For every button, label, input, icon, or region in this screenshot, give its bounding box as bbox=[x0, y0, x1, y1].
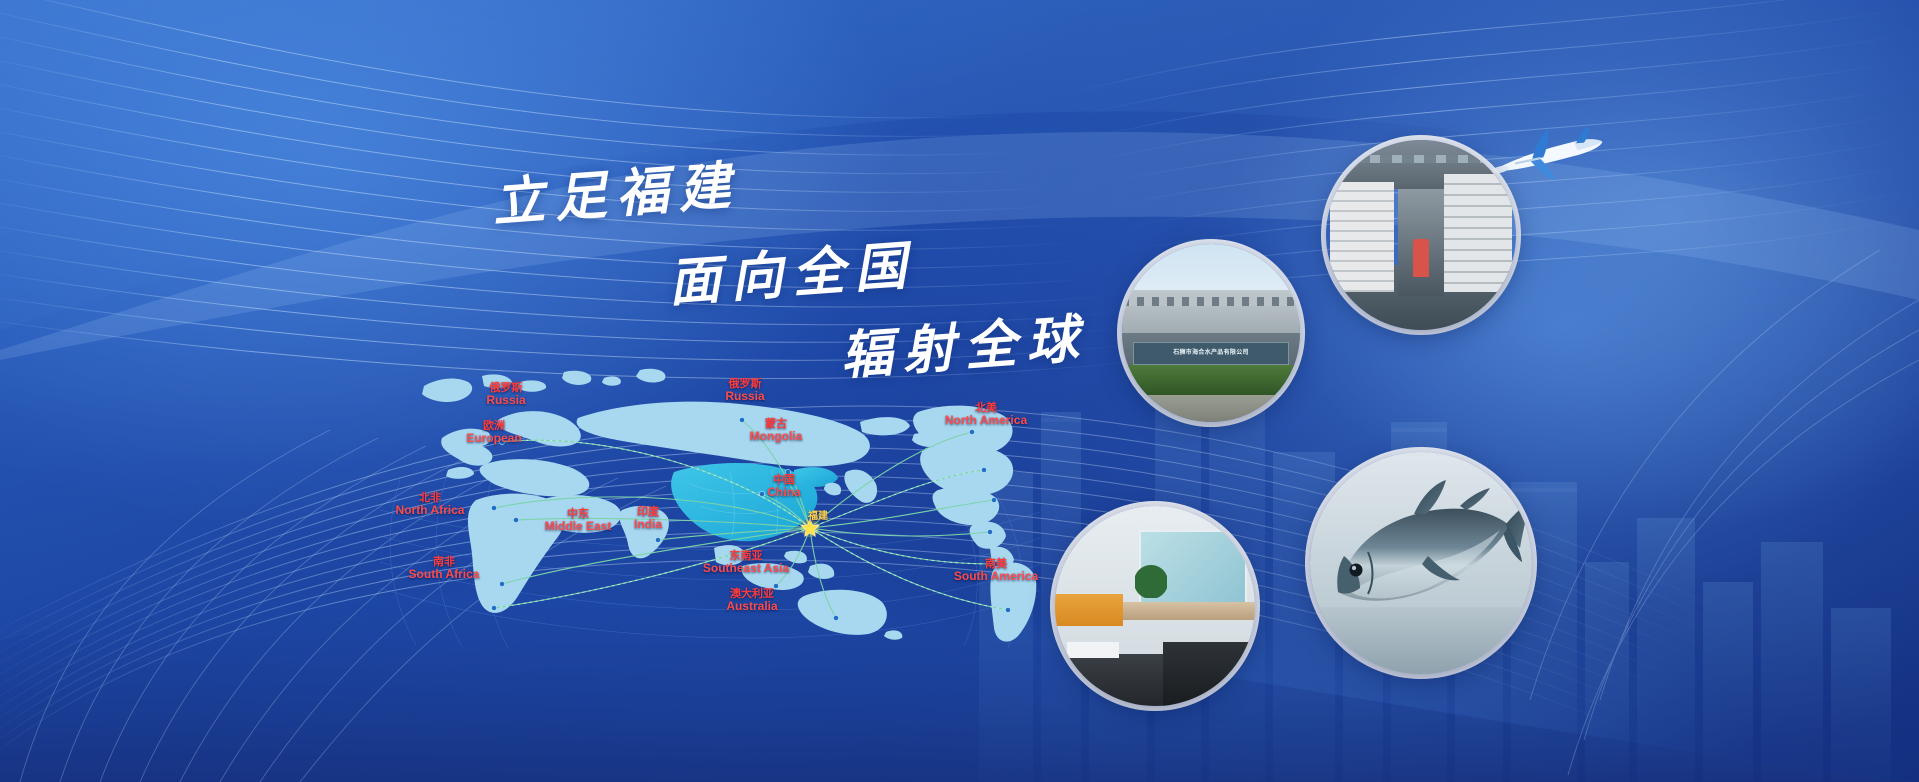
photo-plant bbox=[1135, 558, 1167, 598]
slogan-line-1: 立足福建 bbox=[490, 143, 743, 236]
photo-worker bbox=[1413, 239, 1428, 277]
photo-signboard-text: 石狮市海合水产品有限公司 bbox=[1136, 344, 1286, 364]
photo-cabinet-2 bbox=[1163, 642, 1255, 706]
photo-box-stack-left bbox=[1330, 182, 1395, 292]
photo-office bbox=[1055, 506, 1255, 706]
global-distribution-banner: 立足福建 面向全国 辐射全球 bbox=[0, 0, 1919, 782]
photo-papers bbox=[1067, 642, 1119, 658]
star-icon bbox=[801, 519, 819, 537]
photo-hedge bbox=[1122, 365, 1300, 397]
photo-box-stack-right bbox=[1444, 174, 1512, 292]
slogan-line-2: 面向全国 bbox=[666, 223, 919, 316]
photo-windows bbox=[1122, 297, 1300, 306]
world-distribution-map: 俄罗斯 Russia 俄罗斯 Russia 蒙古 Mongolia 中国 Chi… bbox=[390, 360, 1030, 640]
photo-company-entrance: 石狮市海合水产品有限公司 bbox=[1122, 244, 1300, 422]
tuna-fish-icon bbox=[1310, 452, 1532, 674]
photo-cold-storage bbox=[1326, 140, 1516, 330]
photo-ground bbox=[1122, 395, 1300, 422]
photo-tuna bbox=[1310, 452, 1532, 674]
photo-cabinet bbox=[1055, 654, 1171, 706]
slogan-block: 立足福建 面向全国 辐射全球 bbox=[0, 0, 1100, 360]
photo-pipes bbox=[1326, 155, 1516, 163]
photo-desk-top bbox=[1115, 602, 1255, 620]
photo-desk-left bbox=[1055, 594, 1123, 626]
